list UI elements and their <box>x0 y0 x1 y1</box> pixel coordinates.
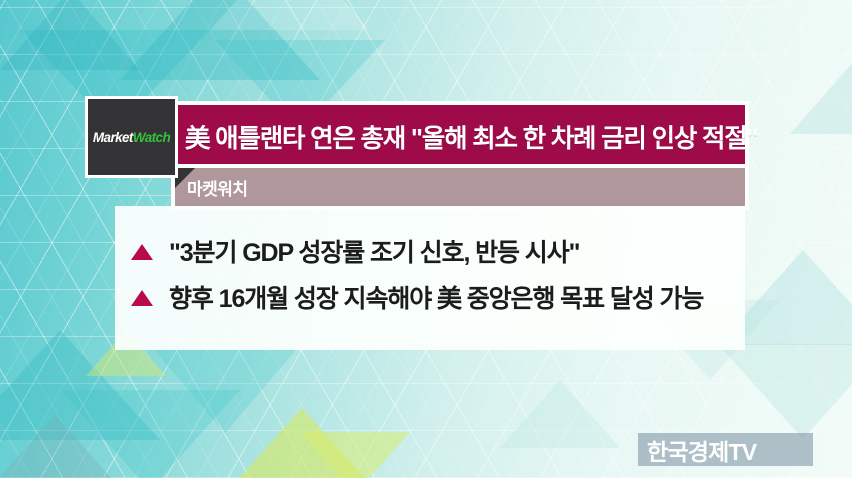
headline-group: 美 애틀랜타 연은 총재 "올해 최소 한 차례 금리 인상 적절" 마켓워치 … <box>115 105 745 206</box>
bg-triangle-14 <box>500 380 620 448</box>
bullet-text: "3분기 GDP 성장률 조기 신호, 반등 시사" <box>169 233 579 269</box>
ribbon-fold-icon <box>175 168 195 188</box>
bg-triangle-lime-2 <box>300 432 410 478</box>
marketwatch-logo-first: Market <box>93 130 133 145</box>
headline-bar: 美 애틀랜타 연은 총재 "올해 최소 한 차례 금리 인상 적절" <box>175 105 745 168</box>
marketwatch-logo-second: Watch <box>133 130 170 145</box>
bullet-item: 향후 16개월 성장 지속해야 美 중앙은행 목표 달성 가능 <box>123 274 745 320</box>
triangle-up-icon <box>131 290 153 306</box>
bg-triangle-4 <box>210 0 370 30</box>
station-watermark: 한국경제TV <box>638 433 813 466</box>
bg-triangle-5 <box>0 0 140 70</box>
marketwatch-logo-text: MarketWatch <box>93 130 170 145</box>
broadcast-graphic-stage: 美 애틀랜타 연은 총재 "올해 최소 한 차례 금리 인상 적절" 마켓워치 … <box>0 0 852 478</box>
bullet-item: "3분기 GDP 성장률 조기 신호, 반등 시사" <box>123 228 745 274</box>
bullet-content-panel: "3분기 GDP 성장률 조기 신호, 반등 시사" 향후 16개월 성장 지속… <box>115 206 745 350</box>
subtitle-bar: 마켓워치 <box>175 168 745 206</box>
bullet-text: 향후 16개월 성장 지속해야 美 중앙은행 목표 달성 가능 <box>169 279 703 315</box>
subtitle-text: 마켓워치 <box>187 175 248 200</box>
headline-text: 美 애틀랜타 연은 총재 "올해 최소 한 차례 금리 인상 적절" <box>185 118 757 155</box>
marketwatch-logo: MarketWatch <box>85 96 178 178</box>
triangle-up-icon <box>131 244 153 260</box>
bg-triangle-13 <box>790 60 852 134</box>
station-watermark-text: 한국경제TV <box>647 433 756 467</box>
bg-triangle-8 <box>0 415 140 478</box>
